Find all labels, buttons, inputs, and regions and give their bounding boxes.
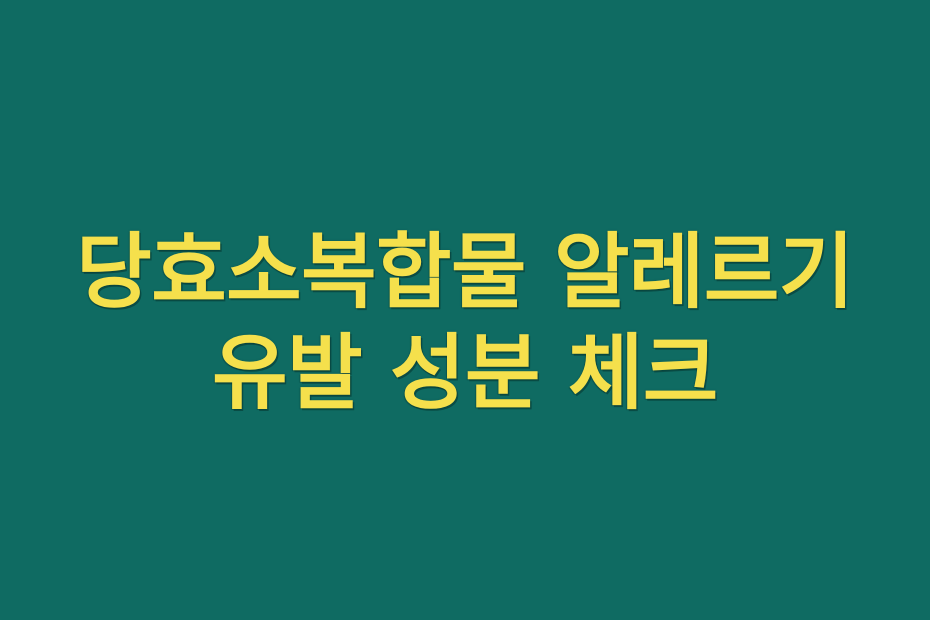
headline-line-2: 유발 성분 체크 bbox=[0, 323, 930, 424]
banner-canvas: 당효소복합물 알레르기 유발 성분 체크 bbox=[0, 0, 930, 620]
headline-block: 당효소복합물 알레르기 유발 성분 체크 bbox=[0, 222, 930, 424]
headline-line-1: 당효소복합물 알레르기 bbox=[0, 222, 930, 323]
